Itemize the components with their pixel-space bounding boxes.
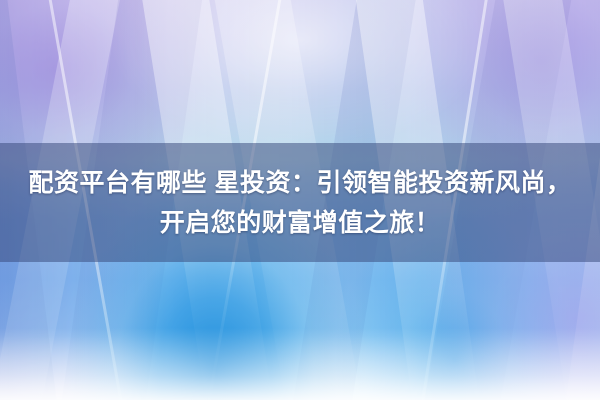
promo-banner: 配资平台有哪些 星投资：引领智能投资新风尚， 开启您的财富增值之旅！ [0,0,600,400]
caption-line-2: 开启您的财富增值之旅！ [160,203,441,243]
caption-line-1: 配资平台有哪些 星投资：引领智能投资新风尚， [29,163,572,203]
caption-overlay-band: 配资平台有哪些 星投资：引领智能投资新风尚， 开启您的财富增值之旅！ [0,143,600,262]
